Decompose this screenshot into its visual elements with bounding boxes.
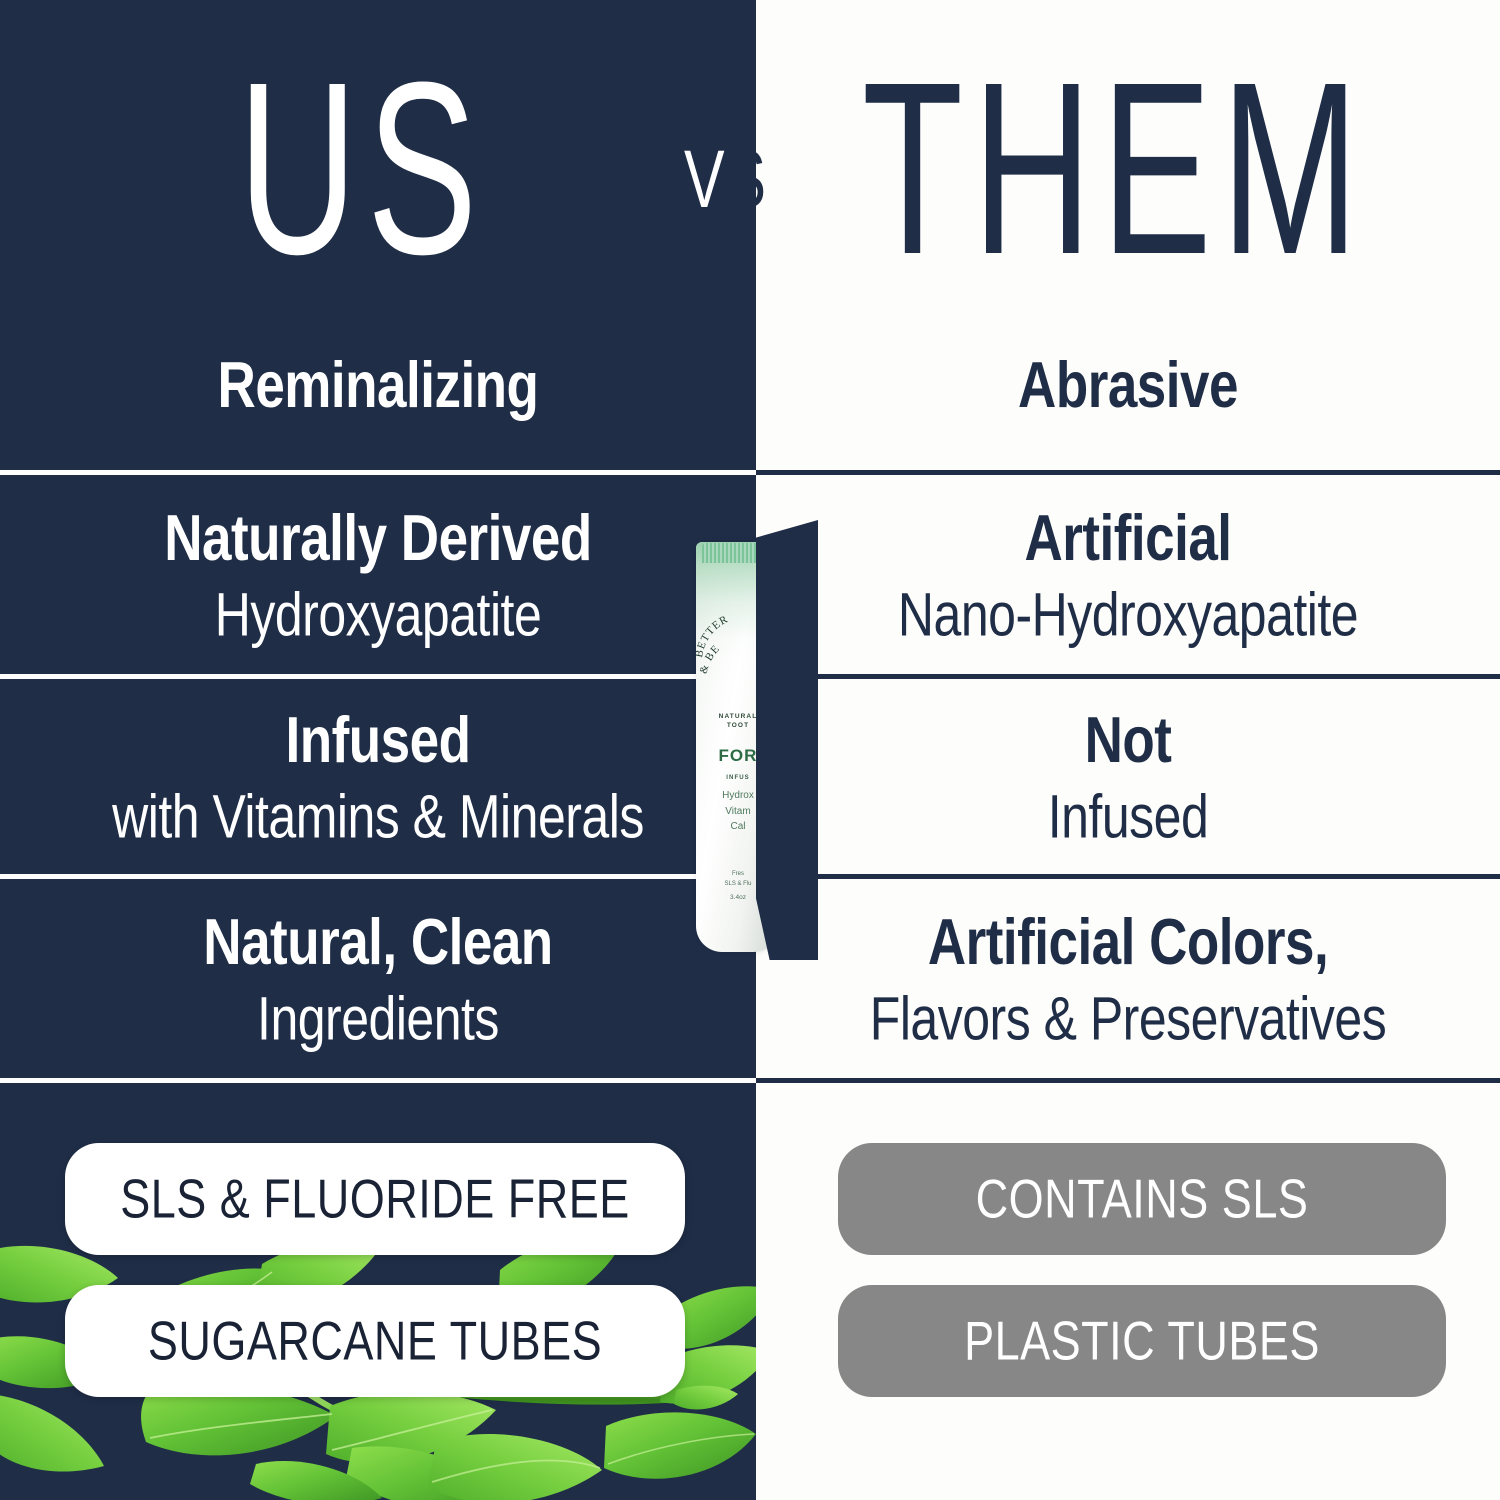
row-2-them-primary: Artificial [1024, 504, 1231, 574]
badge-plastic-tubes[interactable]: PLASTIC TUBES [838, 1285, 1446, 1397]
badges-section: SLS & FLUORIDE FREE SUGARCANE TUBES CONT… [0, 1085, 1500, 1500]
row-4-them-primary: Artificial Colors, [928, 908, 1328, 978]
badge-sugarcane-tubes[interactable]: SUGARCANE TUBES [65, 1285, 685, 1397]
row-1-us-primary: Reminalizing [218, 351, 539, 421]
row-3-them-cell: Not Infused [756, 681, 1500, 876]
row-divider-right [756, 874, 1500, 879]
row-3-them-primary: Not [1085, 706, 1172, 776]
row-3-us-cell: Infused with Vitamins & Minerals [0, 681, 756, 876]
row-2-us-primary: Naturally Derived [164, 504, 591, 574]
badge-contains-sls[interactable]: CONTAINS SLS [838, 1143, 1446, 1255]
badge-label: SUGARCANE TUBES [148, 1309, 602, 1372]
row-3-us-primary: Infused [286, 706, 471, 776]
row-divider-left [0, 674, 756, 679]
tube-flavor-line-1: Fres [732, 871, 744, 877]
tube-overlay-navy-block [756, 520, 818, 960]
tube-category-line-1: NATURAL [719, 713, 758, 720]
row-1-them-primary: Abrasive [1018, 351, 1238, 421]
row-1-us-cell: Reminalizing [0, 300, 756, 472]
badge-label: CONTAINS SLS [976, 1167, 1309, 1230]
badge-label: SLS & FLUORIDE FREE [120, 1167, 630, 1230]
tube-ingredient-2: Vitam [725, 806, 750, 817]
row-4-us-primary: Natural, Clean [203, 908, 552, 978]
row-2-them-secondary: Nano-Hydroxyapatite [898, 581, 1358, 649]
row-divider-right [756, 1078, 1500, 1083]
comparison-infographic: US VS THEM Reminalizing Abrasive Natural… [0, 0, 1500, 1500]
row-divider-right [756, 470, 1500, 475]
row-divider-left [0, 470, 756, 475]
row-divider-right [756, 674, 1500, 679]
row-4-us-secondary: Ingredients [257, 985, 499, 1053]
product-image-toothpaste-tube: BETTER & BE NATURAL TOOT FOR INFUS Hydro… [668, 520, 848, 960]
comparison-row: Reminalizing Abrasive [0, 300, 1500, 472]
badge-sls-fluoride-free[interactable]: SLS & FLUORIDE FREE [65, 1143, 685, 1255]
tube-ingredient-3: Cal [730, 821, 745, 832]
row-2-us-secondary: Hydroxyapatite [215, 581, 542, 649]
row-4-them-cell: Artificial Colors, Flavors & Preservativ… [756, 881, 1500, 1080]
row-divider-left [0, 874, 756, 879]
badge-label: PLASTIC TUBES [964, 1309, 1320, 1372]
row-3-us-secondary: with Vitamins & Minerals [112, 783, 644, 851]
row-4-them-secondary: Flavors & Preservatives [870, 985, 1386, 1053]
tube-category-line-2: TOOT [727, 722, 749, 729]
row-3-them-secondary: Infused [1048, 783, 1209, 851]
row-divider-left [0, 1078, 756, 1083]
tube-flavor-line-2: SLS & Flu [724, 881, 751, 887]
row-1-them-cell: Abrasive [756, 300, 1500, 472]
row-4-us-cell: Natural, Clean Ingredients [0, 881, 756, 1080]
row-2-them-cell: Artificial Nano-Hydroxyapatite [756, 477, 1500, 676]
tube-ingredient-1: Hydrox [722, 790, 754, 801]
row-2-us-cell: Naturally Derived Hydroxyapatite [0, 477, 756, 676]
